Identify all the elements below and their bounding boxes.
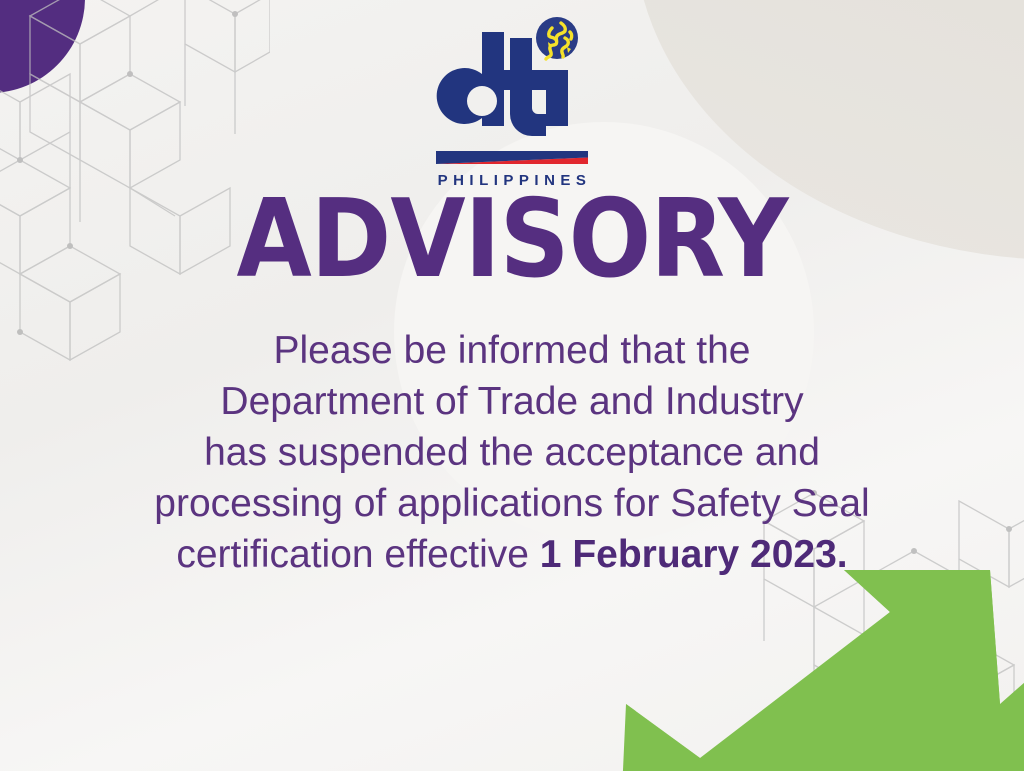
- advisory-body-text: Please be informed that the Department o…: [0, 325, 1024, 580]
- advisory-line-5-prefix: certification effective: [176, 533, 539, 576]
- advisory-poster: PHILIPPINES ADVISORY Please be informed …: [0, 0, 1024, 771]
- dti-logo-bar: [424, 151, 600, 165]
- dti-lettermark: [424, 16, 600, 151]
- philippines-globe-icon: [536, 17, 578, 59]
- advisory-line-3: has suspended the acceptance and: [0, 427, 1024, 478]
- purple-circle-accent: [0, 0, 85, 93]
- advisory-line-4: processing of applications for Safety Se…: [0, 478, 1024, 529]
- dti-philippines-logo: PHILIPPINES: [424, 16, 600, 189]
- page-title: ADVISORY: [0, 186, 1024, 294]
- upward-trending-arrow-icon: [622, 552, 1024, 771]
- advisory-line-1: Please be informed that the: [0, 325, 1024, 376]
- advisory-line-2: Department of Trade and Industry: [0, 376, 1024, 427]
